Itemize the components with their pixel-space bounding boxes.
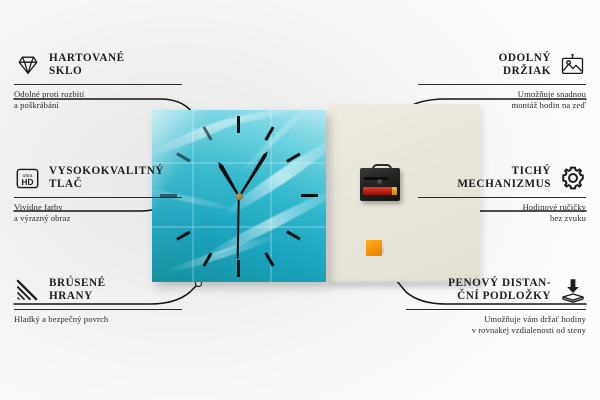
clock-tick [237, 116, 240, 133]
feature-foam-spacers: PENOVÝ DISTAN- ČNÍ PODLOŽKY Umožňuje vám… [406, 275, 586, 336]
feature-high-quality-print: ultra HD VYSOKOKVALITNÝ TLAČ Vivídne far… [14, 163, 182, 224]
gear-icon [559, 165, 586, 192]
picture-hanger-icon [559, 52, 586, 79]
svg-text:HD: HD [22, 177, 34, 186]
feature-header: BRÚSENÉ HRANY [14, 275, 182, 305]
feature-title: BRÚSENÉ HRANY [49, 277, 182, 304]
feature-ground-edges: BRÚSENÉ HRANY Hladký a bezpečný povrch [14, 275, 182, 325]
foam-spacer-pad [366, 238, 384, 256]
feature-subtitle: Hodinové ručičky bez zvuku [418, 202, 586, 224]
feature-title: TICHÝ MECHANIZMUS [418, 165, 551, 192]
feature-subtitle: Umožňuje snadnou montáž hodin na zeď [418, 89, 586, 111]
mechanism-battery-tip [392, 187, 397, 195]
feature-divider [418, 84, 586, 85]
feature-header: ultra HD VYSOKOKVALITNÝ TLAČ [14, 163, 182, 193]
clock-tick [237, 260, 240, 277]
diamond-icon [14, 52, 41, 79]
clock-mechanism [360, 164, 400, 201]
feature-header: HARTOVANÉ SKLO [14, 50, 182, 80]
mechanism-battery [363, 187, 393, 195]
feature-title: PENOVÝ DISTAN- ČNÍ PODLOŽKY [406, 277, 551, 304]
feature-divider [418, 197, 586, 198]
clock-tick [301, 194, 318, 197]
feature-divider [14, 84, 182, 85]
feature-header: TICHÝ MECHANIZMUS [418, 163, 586, 193]
feature-subtitle: Hladký a bezpečný povrch [14, 314, 182, 325]
feature-title: HARTOVANÉ SKLO [49, 52, 182, 79]
feature-header: PENOVÝ DISTAN- ČNÍ PODLOŽKY [406, 275, 586, 305]
feature-durable-holder: ODOLNÝ DRŽIAK Umožňuje snadnou montáž ho… [418, 50, 586, 111]
feature-silent-mechanism: TICHÝ MECHANIZMUS Hodinové ručičky bez z… [418, 163, 586, 224]
mechanism-shaft [377, 179, 382, 184]
feature-title: VYSOKOKVALITNÝ TLAČ [49, 165, 182, 192]
foam-spacer-icon [559, 277, 586, 304]
foam-pad-front [366, 240, 382, 256]
infographic-canvas: HARTOVANÉ SKLO Odolné proti rozbití a po… [0, 0, 600, 400]
ultra-hd-icon: ultra HD [14, 165, 41, 192]
feature-subtitle: Odolné proti rozbití a poškrábání [14, 89, 182, 111]
feature-header: ODOLNÝ DRŽIAK [418, 50, 586, 80]
feature-divider [14, 309, 182, 310]
feature-subtitle: Vivídne farby a výrazný obraz [14, 202, 182, 224]
ground-edges-icon [14, 277, 41, 304]
feature-divider [14, 197, 182, 198]
feature-title: ODOLNÝ DRŽIAK [418, 52, 551, 79]
clock-center-cap [236, 193, 243, 200]
mechanism-groove [364, 177, 388, 180]
feature-divider [406, 309, 586, 310]
feature-subtitle: Umožňuje vám držať hodiny v rovnakej vzd… [406, 314, 586, 336]
feature-tempered-glass: HARTOVANÉ SKLO Odolné proti rozbití a po… [14, 50, 182, 111]
mechanism-body [360, 168, 400, 201]
